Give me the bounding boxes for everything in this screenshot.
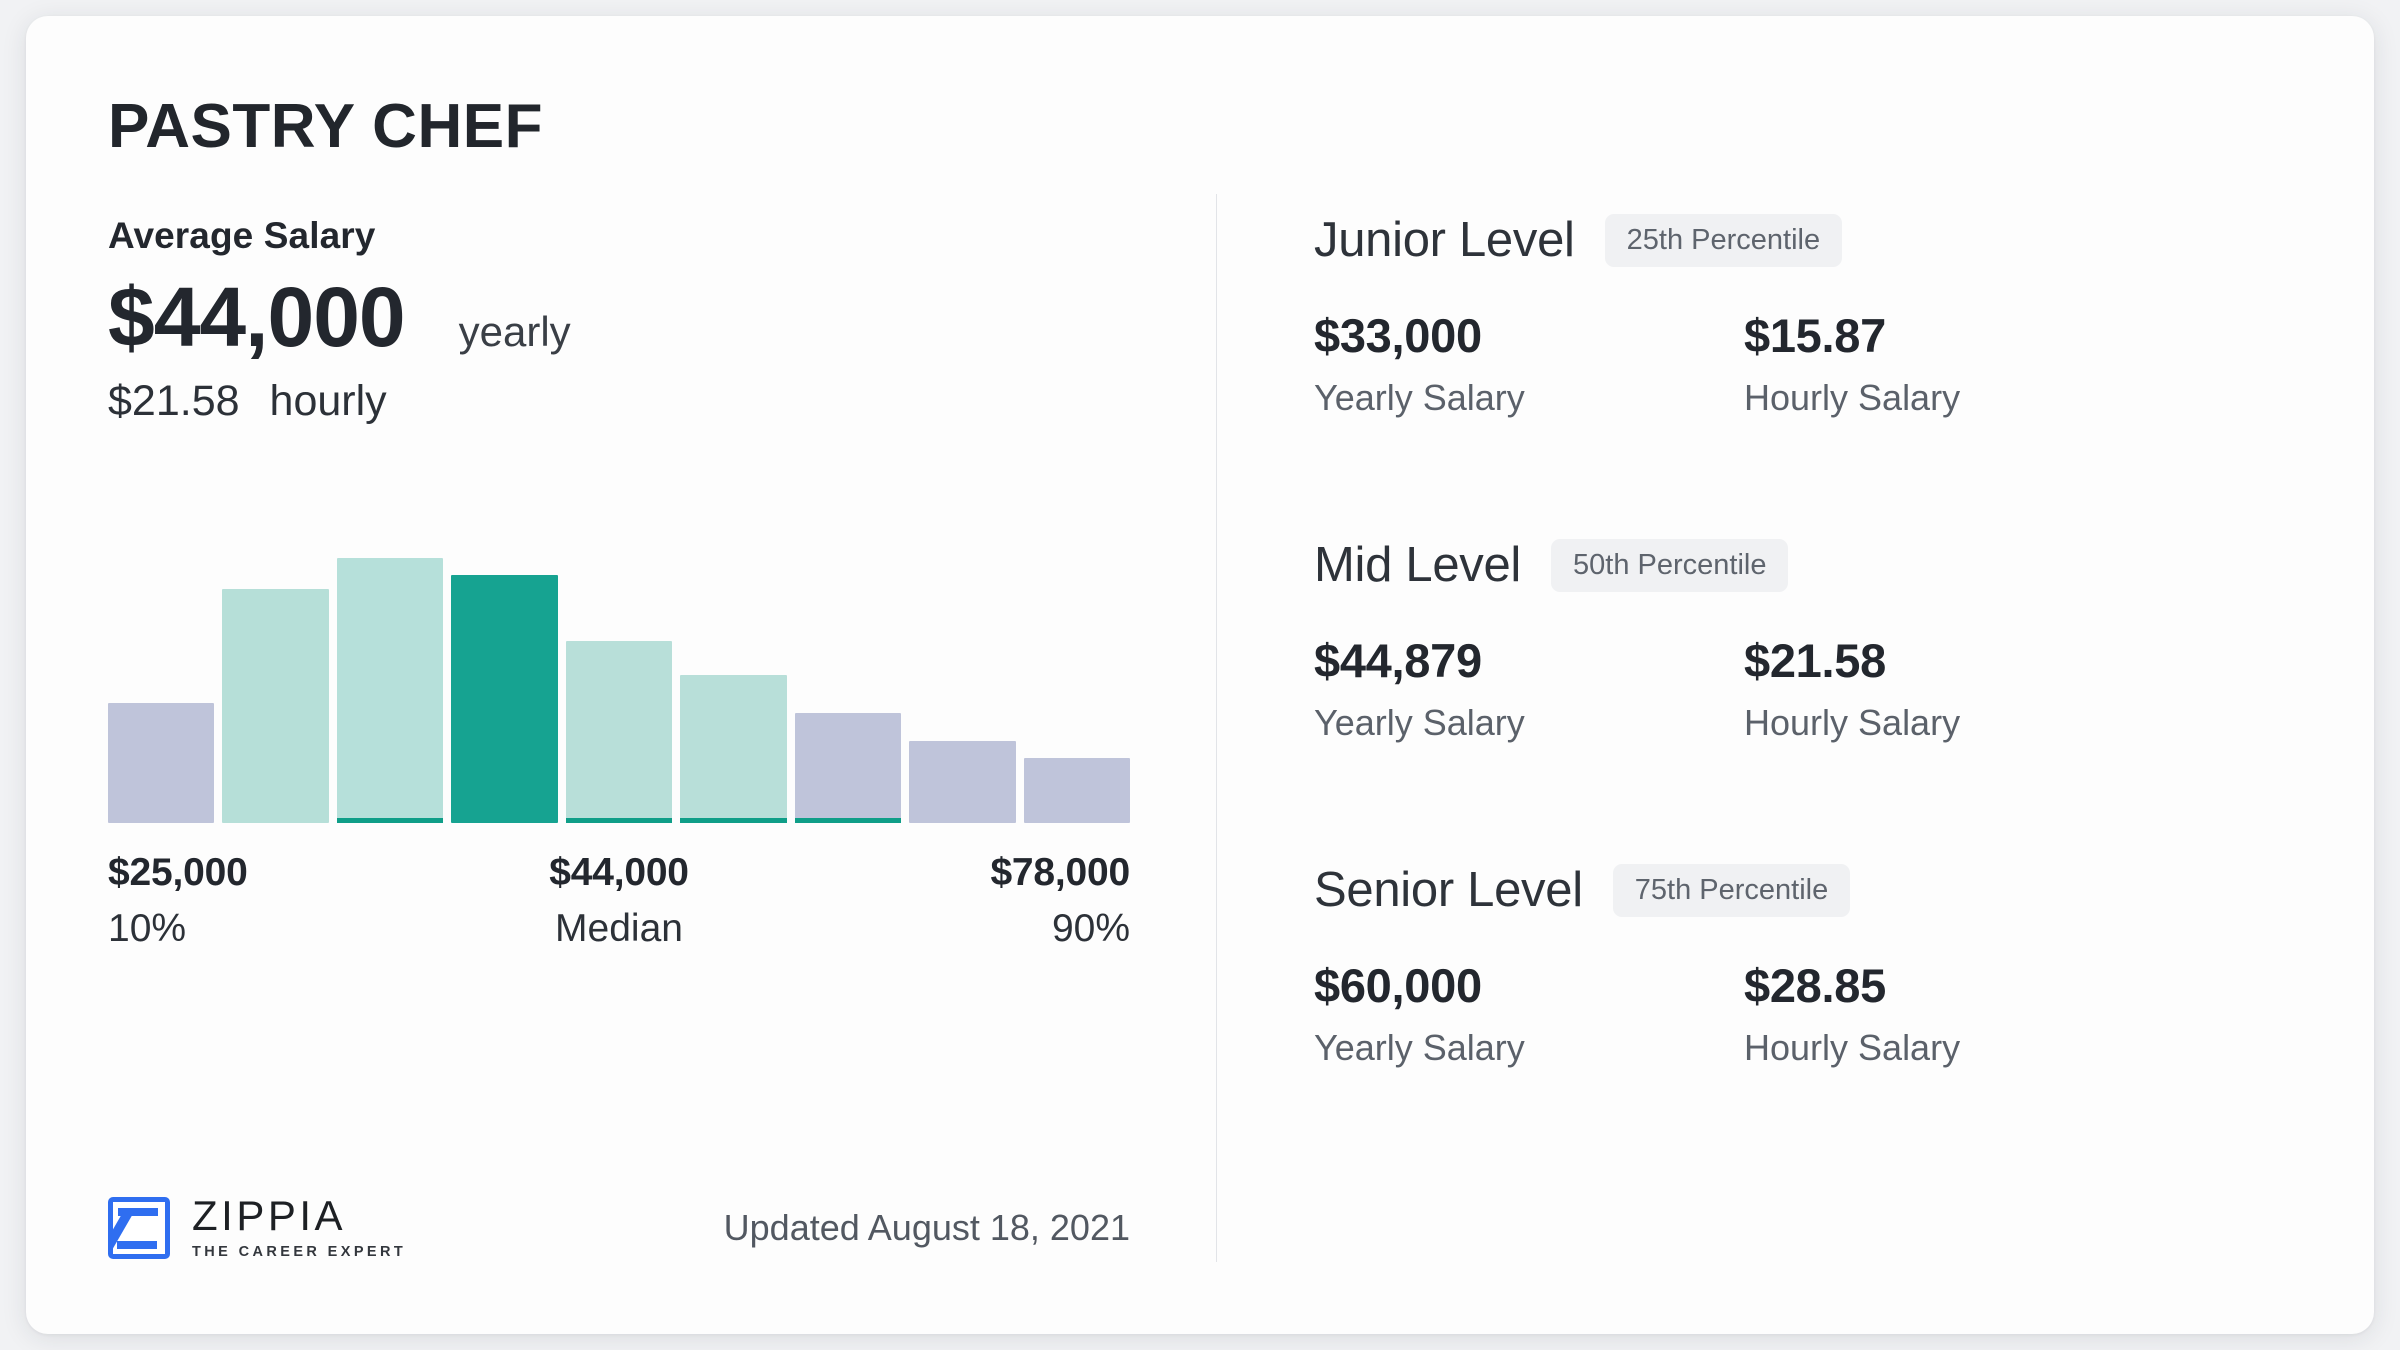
chart-bar: [1024, 758, 1130, 824]
hourly-salary-row: $21.58 hourly: [108, 377, 1216, 426]
axis-label-sub: 10%: [108, 907, 449, 951]
chart-bar-underline: [566, 818, 672, 823]
salary-stat: $60,000Yearly Salary: [1314, 958, 1744, 1069]
salary-card: PASTRY CHEF Average Salary $44,000 yearl…: [26, 16, 2374, 1334]
salary-summary-panel: PASTRY CHEF Average Salary $44,000 yearl…: [26, 16, 1216, 1334]
brand-name: ZIPPIA: [192, 1195, 406, 1237]
chart-bars: [108, 478, 1130, 823]
salary-stat-label: Hourly Salary: [1744, 702, 1960, 744]
chart-bar-slot: [108, 478, 214, 823]
experience-level-block: Mid Level50th Percentile$44,879Yearly Sa…: [1314, 537, 2374, 744]
chart-bar-slot: [680, 478, 786, 823]
yearly-salary-amount: $44,000: [108, 271, 405, 363]
chart-bar: [566, 641, 672, 824]
axis-label-value: $78,000: [789, 851, 1130, 895]
axis-label-value: $25,000: [108, 851, 449, 895]
experience-level-header: Mid Level50th Percentile: [1314, 537, 2374, 593]
chart-bar-underline: [795, 818, 901, 823]
experience-level-name: Senior Level: [1314, 862, 1583, 918]
salary-stat: $28.85Hourly Salary: [1744, 958, 1960, 1069]
experience-level-name: Mid Level: [1314, 537, 1521, 593]
salary-stat: $15.87Hourly Salary: [1744, 308, 1960, 419]
salary-stat-value: $33,000: [1314, 308, 1744, 363]
axis-label-value: $44,000: [449, 851, 790, 895]
salary-stat-value: $44,879: [1314, 633, 1744, 688]
salary-stat-label: Yearly Salary: [1314, 1027, 1744, 1069]
chart-bar: [909, 741, 1015, 824]
chart-bar: [337, 558, 443, 824]
experience-level-header: Senior Level75th Percentile: [1314, 862, 2374, 918]
page-background: PASTRY CHEF Average Salary $44,000 yearl…: [0, 0, 2400, 1350]
experience-level-stats: $33,000Yearly Salary$15.87Hourly Salary: [1314, 308, 2374, 419]
zippia-logo: ZIPPIA THE CAREER EXPERT: [108, 1195, 406, 1260]
experience-level-stats: $60,000Yearly Salary$28.85Hourly Salary: [1314, 958, 2374, 1069]
salary-stat-label: Hourly Salary: [1744, 377, 1960, 419]
chart-bar-slot: [337, 478, 443, 823]
salary-stat-value: $28.85: [1744, 958, 1960, 1013]
yearly-salary-unit: yearly: [459, 308, 571, 356]
brand-tagline: THE CAREER EXPERT: [192, 1244, 406, 1260]
brand-text: ZIPPIA THE CAREER EXPERT: [192, 1195, 406, 1260]
chart-bar: [680, 675, 786, 823]
hourly-salary-unit: hourly: [270, 377, 387, 426]
average-salary-label: Average Salary: [108, 215, 1216, 257]
salary-stat-value: $21.58: [1744, 633, 1960, 688]
chart-bar-underline: [680, 818, 786, 823]
experience-level-name: Junior Level: [1314, 212, 1575, 268]
chart-bar-slot: [566, 478, 672, 823]
chart-axis-labels: $25,00010%$44,000Median$78,00090%: [108, 851, 1130, 951]
page-title: PASTRY CHEF: [108, 94, 1216, 159]
zippia-mark-icon: [108, 1197, 170, 1259]
percentile-badge: 25th Percentile: [1605, 214, 1842, 267]
salary-stat-label: Yearly Salary: [1314, 377, 1744, 419]
experience-level-block: Junior Level25th Percentile$33,000Yearly…: [1314, 212, 2374, 419]
yearly-salary-row: $44,000 yearly: [108, 271, 1216, 363]
chart-bar: [451, 575, 557, 823]
salary-stat-label: Hourly Salary: [1744, 1027, 1960, 1069]
updated-date: Updated August 18, 2021: [724, 1207, 1130, 1249]
salary-stat-value: $60,000: [1314, 958, 1744, 1013]
panel-divider: [1216, 194, 1217, 1262]
axis-label-sub: 90%: [789, 907, 1130, 951]
chart-bar: [108, 703, 214, 824]
experience-level-stats: $44,879Yearly Salary$21.58Hourly Salary: [1314, 633, 2374, 744]
experience-level-header: Junior Level25th Percentile: [1314, 212, 2374, 268]
chart-bar-slot: [795, 478, 901, 823]
axis-label-group: $78,00090%: [789, 851, 1130, 951]
salary-stat: $21.58Hourly Salary: [1744, 633, 1960, 744]
salary-stat: $33,000Yearly Salary: [1314, 308, 1744, 419]
salary-distribution-chart: $25,00010%$44,000Median$78,00090%: [108, 478, 1130, 951]
card-footer: ZIPPIA THE CAREER EXPERT Updated August …: [108, 1195, 1130, 1260]
chart-bar-slot: [451, 478, 557, 823]
axis-label-group: $44,000Median: [449, 851, 790, 951]
chart-bar: [222, 589, 328, 824]
chart-bar: [795, 713, 901, 823]
chart-bar-slot: [909, 478, 1015, 823]
percentile-badge: 75th Percentile: [1613, 864, 1850, 917]
salary-stat: $44,879Yearly Salary: [1314, 633, 1744, 744]
chart-bar-slot: [222, 478, 328, 823]
axis-label-group: $25,00010%: [108, 851, 449, 951]
salary-stat-label: Yearly Salary: [1314, 702, 1744, 744]
chart-bar-slot: [1024, 478, 1130, 823]
chart-bar-underline: [337, 818, 443, 823]
percentile-badge: 50th Percentile: [1551, 539, 1788, 592]
salary-stat-value: $15.87: [1744, 308, 1960, 363]
hourly-salary-amount: $21.58: [108, 377, 240, 426]
experience-levels-panel: Junior Level25th Percentile$33,000Yearly…: [1216, 16, 2374, 1334]
axis-label-sub: Median: [449, 907, 790, 951]
experience-level-block: Senior Level75th Percentile$60,000Yearly…: [1314, 862, 2374, 1069]
